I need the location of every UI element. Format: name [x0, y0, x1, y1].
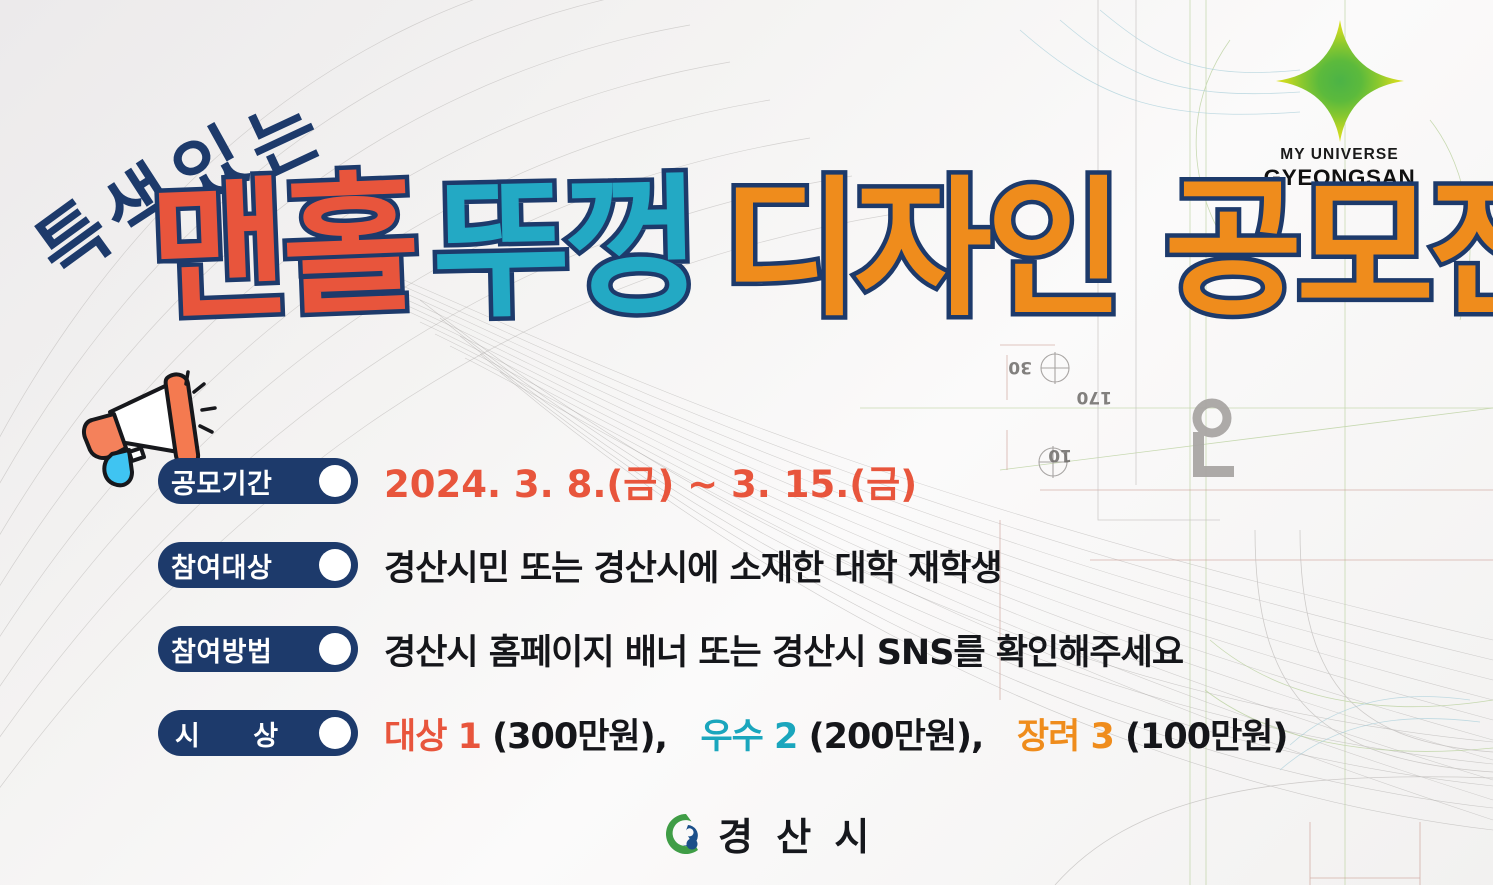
badge-dot-icon — [319, 717, 351, 749]
info-row-eligibility: 참여대상 경산시민 또는 경산시에 소재한 대학 재학생 — [158, 536, 1458, 594]
headline-segment-design-contest: 디자인 공모전 — [722, 175, 1493, 325]
info-badge-label-how-to-apply: 참여방법 — [171, 630, 272, 669]
info-badge-eligibility: 참여대상 — [158, 542, 358, 588]
info-badge-prizes: 시 상 — [158, 710, 358, 756]
prize-excellence-amount: (200만원), — [809, 717, 984, 757]
badge-dot-icon — [319, 633, 351, 665]
info-value-prizes: 대상 1 (300만원), 우수 2 (200만원), 장려 3 (100만원) — [384, 708, 1288, 759]
headline-segment-cover: 뚜껑 — [430, 172, 697, 327]
info-row-period: 공모기간 2024. 3. 8.(금) ~ 3. 15.(금) — [158, 452, 1458, 510]
prize-grand-amount: (300만원), — [492, 717, 667, 757]
info-badge-period: 공모기간 — [158, 458, 358, 504]
info-badge-label-eligibility: 참여대상 — [171, 546, 272, 585]
city-logo-text: 경 산 시 — [718, 806, 874, 861]
prize-encouragement-amount: (100만원) — [1125, 717, 1287, 757]
poster-root: 30 170 10 MY UN — [0, 0, 1493, 885]
badge-dot-icon — [319, 549, 351, 581]
city-logo: 경 산 시 — [664, 806, 874, 861]
info-badge-how-to-apply: 참여방법 — [158, 626, 358, 672]
prize-encouragement-name: 장려 3 — [1017, 717, 1114, 757]
info-list: 공모기간 2024. 3. 8.(금) ~ 3. 15.(금) 참여대상 경산시… — [158, 452, 1458, 788]
info-row-how-to-apply: 참여방법 경산시 홈페이지 배너 또는 경산시 SNS를 확인해주세요 — [158, 620, 1458, 678]
four-point-star-icon — [1274, 18, 1406, 144]
prize-excellence: 우수 2 (200만원), — [700, 717, 994, 757]
info-value-period: 2024. 3. 8.(금) ~ 3. 15.(금) — [384, 454, 917, 508]
info-badge-label-prizes: 시 상 — [171, 714, 300, 753]
prize-encouragement: 장려 3 (100만원) — [1017, 717, 1288, 757]
prize-excellence-name: 우수 2 — [700, 717, 797, 757]
prize-grand-name: 대상 1 — [384, 717, 481, 757]
svg-text:170: 170 — [1076, 387, 1112, 407]
prize-grand: 대상 1 (300만원), — [384, 717, 678, 757]
brand-tagline: MY UNIVERSE — [1232, 146, 1447, 164]
info-row-prizes: 시 상 대상 1 (300만원), 우수 2 (200만원), 장려 3 (10… — [158, 704, 1458, 762]
info-value-eligibility: 경산시민 또는 경산시에 소재한 대학 재학생 — [384, 540, 1002, 591]
badge-dot-icon — [319, 465, 351, 497]
info-badge-label-period: 공모기간 — [171, 462, 272, 501]
page-title: 맨홀뚜껑디자인 공모전 — [150, 175, 1450, 365]
gyeongsan-emblem-icon — [664, 812, 708, 856]
headline-segment-manhole: 맨홀 — [147, 170, 417, 330]
info-value-how-to-apply: 경산시 홈페이지 배너 또는 경산시 SNS를 확인해주세요 — [384, 624, 1183, 675]
